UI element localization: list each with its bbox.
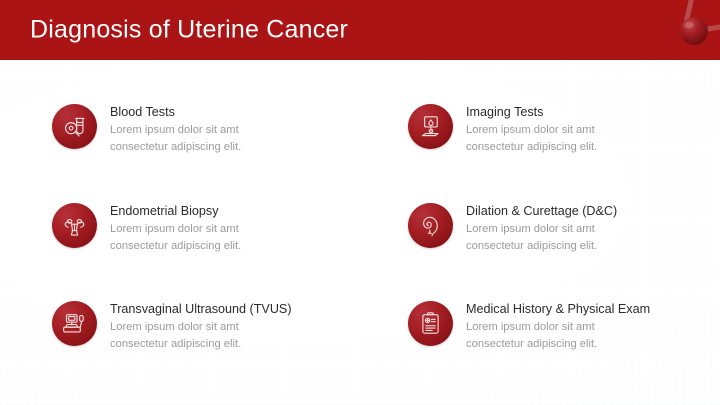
slide-header: Diagnosis of Uterine Cancer (0, 0, 720, 60)
list-item[interactable]: Imaging Tests Lorem ipsum dolor sit amt … (408, 104, 708, 156)
slide-canvas: Diagnosis of Uterine Cancer (0, 0, 720, 405)
list-item-desc-line2: consectetur adipiscing elit. (110, 239, 241, 254)
list-item[interactable]: Medical History & Physical Exam Lorem ip… (408, 301, 708, 353)
list-item-text: Endometrial Biopsy Lorem ipsum dolor sit… (110, 203, 241, 255)
list-item[interactable]: Endometrial Biopsy Lorem ipsum dolor sit… (52, 203, 352, 255)
clipboard-medical-icon (408, 301, 453, 346)
list-item-desc-line2: consectetur adipiscing elit. (466, 337, 650, 352)
molecule-sphere-decor-icon (630, 0, 720, 60)
list-item-text: Medical History & Physical Exam Lorem ip… (466, 301, 650, 353)
list-item-desc-line2: consectetur adipiscing elit. (110, 140, 241, 155)
curette-spiral-icon (408, 203, 453, 248)
imaging-scanner-icon (408, 104, 453, 149)
list-item-desc-line1: Lorem ipsum dolor sit amt (110, 123, 241, 138)
list-item-title: Transvaginal Ultrasound (TVUS) (110, 302, 292, 318)
list-item-desc-line1: Lorem ipsum dolor sit amt (110, 222, 241, 237)
ultrasound-machine-icon (52, 301, 97, 346)
list-item-text: Imaging Tests Lorem ipsum dolor sit amt … (466, 104, 597, 156)
list-item-title: Blood Tests (110, 105, 241, 121)
list-item-title: Endometrial Biopsy (110, 204, 241, 220)
list-item-desc-line1: Lorem ipsum dolor sit amt (466, 222, 617, 237)
list-item-text: Transvaginal Ultrasound (TVUS) Lorem ips… (110, 301, 292, 353)
list-item-desc-line2: consectetur adipiscing elit. (466, 140, 597, 155)
list-item-title: Dilation & Curettage (D&C) (466, 204, 617, 220)
diagnosis-items-grid: Blood Tests Lorem ipsum dolor sit amt co… (0, 60, 720, 405)
list-item-desc-line2: consectetur adipiscing elit. (466, 239, 617, 254)
list-item-desc-line1: Lorem ipsum dolor sit amt (466, 123, 597, 138)
list-item-desc-line1: Lorem ipsum dolor sit amt (110, 320, 292, 335)
list-item[interactable]: Transvaginal Ultrasound (TVUS) Lorem ips… (52, 301, 352, 353)
list-item[interactable]: Dilation & Curettage (D&C) Lorem ipsum d… (408, 203, 708, 255)
list-item-desc-line1: Lorem ipsum dolor sit amt (466, 320, 650, 335)
list-item-desc-line2: consectetur adipiscing elit. (110, 337, 292, 352)
magnifier-test-tube-icon (52, 104, 97, 149)
list-item-title: Imaging Tests (466, 105, 597, 121)
list-item-text: Dilation & Curettage (D&C) Lorem ipsum d… (466, 203, 617, 255)
uterus-anatomy-icon (52, 203, 97, 248)
page-title: Diagnosis of Uterine Cancer (30, 16, 348, 45)
list-item-text: Blood Tests Lorem ipsum dolor sit amt co… (110, 104, 241, 156)
list-item[interactable]: Blood Tests Lorem ipsum dolor sit amt co… (52, 104, 352, 156)
list-item-title: Medical History & Physical Exam (466, 302, 650, 318)
